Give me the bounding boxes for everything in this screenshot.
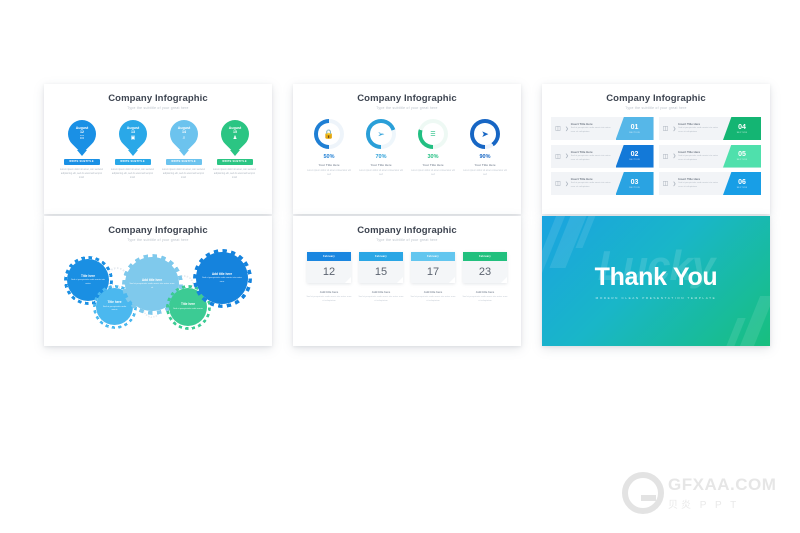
site-watermark: GFXAA.COM 贝炎 P P T [622,472,776,514]
write-subtitle-button[interactable]: WRITE SUBTITLE [115,159,151,165]
donut-description: Lorem ipsum dolor sit amet consectetur e… [305,169,353,177]
progress-ring: ➢ [366,119,396,149]
pin-day: 13 [131,130,135,134]
donut-description: Lorem ipsum dolor sit amet consectetur e… [357,169,405,177]
card-title: Add title here [306,290,352,294]
row-number-badge: 03 SECTION [616,172,654,195]
card-description: Sed ut perspiciatis unde omnis iste natu… [358,296,404,304]
donut-item[interactable]: ☰ 30% Your Title Here Lorem ipsum dolor … [409,119,457,177]
row-heading: Insert Title Here [678,177,723,181]
calendar-card: February 12 [307,252,351,283]
row-number-sub: SECTION [629,187,640,189]
chevron-right-icon: ❯ [673,181,677,187]
gear-title: Add title here [142,278,162,282]
row-heading: Insert Title Here [571,122,616,126]
write-subtitle-button[interactable]: WRITE SUBTITLE [166,159,202,165]
gear-title: Title here [181,302,195,306]
row-description: Sed ut perspiciatis unde omnis iste natu… [571,155,616,163]
page-title: Company Infographic [293,93,521,104]
row-heading: Insert Title Here [571,150,616,154]
chevron-right-icon: ❯ [565,181,569,187]
map-pin-icon: August 13 ▣ [113,114,153,154]
row-heading: Insert Title Here [678,150,723,154]
donut-title: Your Title Here [461,163,509,167]
list-item[interactable]: ◫ ❯ Insert Title Here Sed ut perspiciati… [551,172,654,195]
thank-you-background: Lucky Thank You MODERN CLEAN PRESENTATIO… [542,216,770,346]
watermark-domain: GFXAA.COM [668,475,776,495]
gear-item[interactable]: Add title here Sed ut perspiciatis unde … [196,252,248,304]
list-item[interactable]: ◫ ❯ Insert Title Here Sed ut perspiciati… [659,117,762,140]
gear-description: Sed ut perspiciatis unde omnis iste natu… [125,283,179,290]
row-number-badge: 02 SECTION [616,145,654,168]
row-number: 06 [738,179,746,186]
chart-icon: ☷ [79,135,83,141]
pin-description: Lorem ipsum dolor sit amet, con sectetur… [60,168,104,180]
watermark-secondary: 贝炎 P P T [668,496,776,511]
row-number: 05 [738,151,746,158]
row-number: 02 [631,151,639,158]
file-icon: ◫ [551,153,565,160]
page-title: Company Infographic [44,225,272,236]
row-number: 04 [738,124,746,131]
card-item[interactable]: February 23 Add title here Sed ut perspi… [462,252,508,304]
gear-description: Sed ut perspiciatis unde omnis [169,308,207,312]
row-heading: Insert Title Here [571,177,616,181]
page-title: Company Infographic [542,93,770,104]
map-pin-icon: August 15 ♟ [215,114,255,154]
pin-item[interactable]: August 14 ⌕ WRITE SUBTITLE Lorem ipsum d… [162,120,206,180]
slide-thumbnail-numbered-rows[interactable]: Company Infographic Type the subtitle of… [542,84,770,214]
slide-thumbnail-thank-you[interactable]: Lucky Thank You MODERN CLEAN PRESENTATIO… [542,216,770,346]
row-number-badge: 06 SECTION [723,172,761,195]
pin-day: 15 [233,130,237,134]
calendar-card: February 23 [463,252,507,283]
gear-group: Title here Sed ut perspiciatis unde omni… [44,244,272,336]
file-icon: ◫ [551,180,565,187]
file-icon: ◫ [659,153,673,160]
row-heading: Insert Title Here [678,122,723,126]
card-description: Sed ut perspiciatis unde omnis iste natu… [462,296,508,304]
row-number-sub: SECTION [629,132,640,134]
gear-description: Sed ut perspiciatis unde omnis iste natu… [67,279,109,286]
thank-you-title: Thank You [595,263,718,292]
donut-description: Lorem ipsum dolor sit amet consectetur e… [409,169,457,177]
document-glyph: ☰ [430,131,435,138]
chevron-right-icon: ❯ [565,153,569,159]
row-column-left: ◫ ❯ Insert Title Here Sed ut perspiciati… [551,117,654,195]
map-pin-icon: August 14 ⌕ [164,114,204,154]
page-subtitle: Type the subtitle of your great here [44,106,272,110]
card-header: February [411,252,455,261]
card-title: Add title here [358,290,404,294]
rss-glyph: ➢ [377,129,385,140]
card-group: February 12 Add title here Sed ut perspi… [303,252,511,304]
row-number: 01 [631,124,639,131]
card-description: Sed ut perspiciatis unde omnis iste natu… [306,296,352,304]
progress-ring: 🔒 [314,119,344,149]
card-number: 23 [463,261,507,283]
card-item[interactable]: February 12 Add title here Sed ut perspi… [306,252,352,304]
pin-description: Lorem ipsum dolor sit amet, con sectetur… [213,168,257,180]
card-number: 12 [307,261,351,283]
percent-value: 90% [461,154,509,160]
slide-thumbnail-pins[interactable]: Company Infographic Type the subtitle of… [44,84,272,214]
row-description: Sed ut perspiciatis unde omnis iste natu… [678,155,723,163]
page-subtitle: Type the subtitle of your great here [44,238,272,242]
document-icon: ☰ [422,123,444,145]
card-item[interactable]: February 15 Add title here Sed ut perspi… [358,252,404,304]
gear-description: Sed ut perspiciatis unde omnis [96,306,133,313]
row-number-badge: 01 SECTION [616,117,654,140]
progress-ring: ➤ [470,119,500,149]
page-title: Company Infographic [44,93,272,104]
card-item[interactable]: February 17 Add title here Sed ut perspi… [410,252,456,304]
row-description: Sed ut perspiciatis unde omnis iste natu… [571,127,616,135]
g-logo-icon [622,472,664,514]
lock-glyph: 🔒 [323,129,334,140]
percent-value: 50% [305,154,353,160]
row-column-right: ◫ ❯ Insert Title Here Sed ut perspiciati… [659,117,762,195]
row-number-badge: 05 SECTION [723,145,761,168]
card-number: 15 [359,261,403,283]
card-title: Add title here [410,290,456,294]
page-title: Company Infographic [293,225,521,236]
pin-group: August 12 ☷ WRITE SUBTITLE Lorem ipsum d… [56,120,260,180]
send-icon: ➤ [474,123,496,145]
file-icon: ◫ [659,180,673,187]
donut-item[interactable]: ➢ 70% Your Title Here Lorem ipsum dolor … [357,119,405,177]
send-glyph: ➤ [481,129,489,140]
write-subtitle-button[interactable]: WRITE SUBTITLE [64,159,100,165]
list-item[interactable]: ◫ ❯ Insert Title Here Sed ut perspiciati… [551,145,654,168]
donut-item[interactable]: ➤ 90% Your Title Here Lorem ipsum dolor … [461,119,509,177]
list-item[interactable]: ◫ ❯ Insert Title Here Sed ut perspiciati… [659,145,762,168]
donut-title: Your Title Here [305,163,353,167]
page-subtitle: Type the subtitle of your great here [293,238,521,242]
donut-group: 🔒 50% Your Title Here Lorem ipsum dolor … [303,119,511,177]
thank-you-subtitle: MODERN CLEAN PRESENTATION TEMPLATE [596,296,717,300]
row-description: Sed ut perspiciatis unde omnis iste natu… [678,182,723,190]
list-item[interactable]: ◫ ❯ Insert Title Here Sed ut perspiciati… [659,172,762,195]
pin-item[interactable]: August 13 ▣ WRITE SUBTITLE Lorem ipsum d… [111,120,155,180]
card-header: February [359,252,403,261]
donut-title: Your Title Here [409,163,457,167]
card-description: Sed ut perspiciatis unde omnis iste natu… [410,296,456,304]
write-subtitle-button[interactable]: WRITE SUBTITLE [217,159,253,165]
card-header: February [307,252,351,261]
gear-title: Add title here [212,272,232,276]
person-icon: ♟ [232,135,236,141]
pin-day: 14 [182,130,186,134]
file-icon: ◫ [659,125,673,132]
lock-icon: 🔒 [318,123,340,145]
page-subtitle: Type the subtitle of your great here [293,106,521,110]
row-number: 03 [631,179,639,186]
row-number-sub: SECTION [737,132,748,134]
pin-item[interactable]: August 12 ☷ WRITE SUBTITLE Lorem ipsum d… [60,120,104,180]
map-pin-icon: August 12 ☷ [62,114,102,154]
progress-ring: ☰ [418,119,448,149]
chevron-right-icon: ❯ [673,153,677,159]
chevron-right-icon: ❯ [673,126,677,132]
donut-item[interactable]: 🔒 50% Your Title Here Lorem ipsum dolor … [305,119,353,177]
gear-title: Title here [107,300,121,304]
gear-title: Title here [81,274,95,278]
percent-value: 70% [357,154,405,160]
template-preview-sheet: Company Infographic Type the subtitle of… [0,0,800,533]
numbered-row-group: ◫ ❯ Insert Title Here Sed ut perspiciati… [551,117,761,195]
card-title: Add title here [462,290,508,294]
chevron-right-icon: ❯ [565,126,569,132]
slide-thumbnail-donuts[interactable]: Company Infographic Type the subtitle of… [293,84,521,214]
list-item[interactable]: ◫ ❯ Insert Title Here Sed ut perspiciati… [551,117,654,140]
row-number-sub: SECTION [737,159,748,161]
rss-icon: ➢ [370,123,392,145]
gear-description: Sed ut perspiciatis unde omnis iste natu… [196,277,248,284]
page-subtitle: Type the subtitle of your great here [542,106,770,110]
donut-title: Your Title Here [357,163,405,167]
search-icon: ⌕ [182,135,185,141]
pin-description: Lorem ipsum dolor sit amet, con sectetur… [162,168,206,180]
slide-thumbnail-gears[interactable]: Company Infographic Type the subtitle of… [44,216,272,346]
pin-item[interactable]: August 15 ♟ WRITE SUBTITLE Lorem ipsum d… [213,120,257,180]
calendar-card: February 17 [411,252,455,283]
calendar-card: February 15 [359,252,403,283]
row-number-badge: 04 SECTION [723,117,761,140]
row-number-sub: SECTION [737,187,748,189]
card-number: 17 [411,261,455,283]
pin-description: Lorem ipsum dolor sit amet, con sectetur… [111,168,155,180]
percent-value: 30% [409,154,457,160]
file-icon: ◫ [551,125,565,132]
row-description: Sed ut perspiciatis unde omnis iste natu… [571,182,616,190]
row-description: Sed ut perspiciatis unde omnis iste natu… [678,127,723,135]
donut-description: Lorem ipsum dolor sit amet consectetur e… [461,169,509,177]
row-number-sub: SECTION [629,159,640,161]
pin-day: 12 [80,130,84,134]
tablet-icon: ▣ [130,135,135,141]
slide-thumbnail-calendar-cards[interactable]: Company Infographic Type the subtitle of… [293,216,521,346]
card-header: February [463,252,507,261]
